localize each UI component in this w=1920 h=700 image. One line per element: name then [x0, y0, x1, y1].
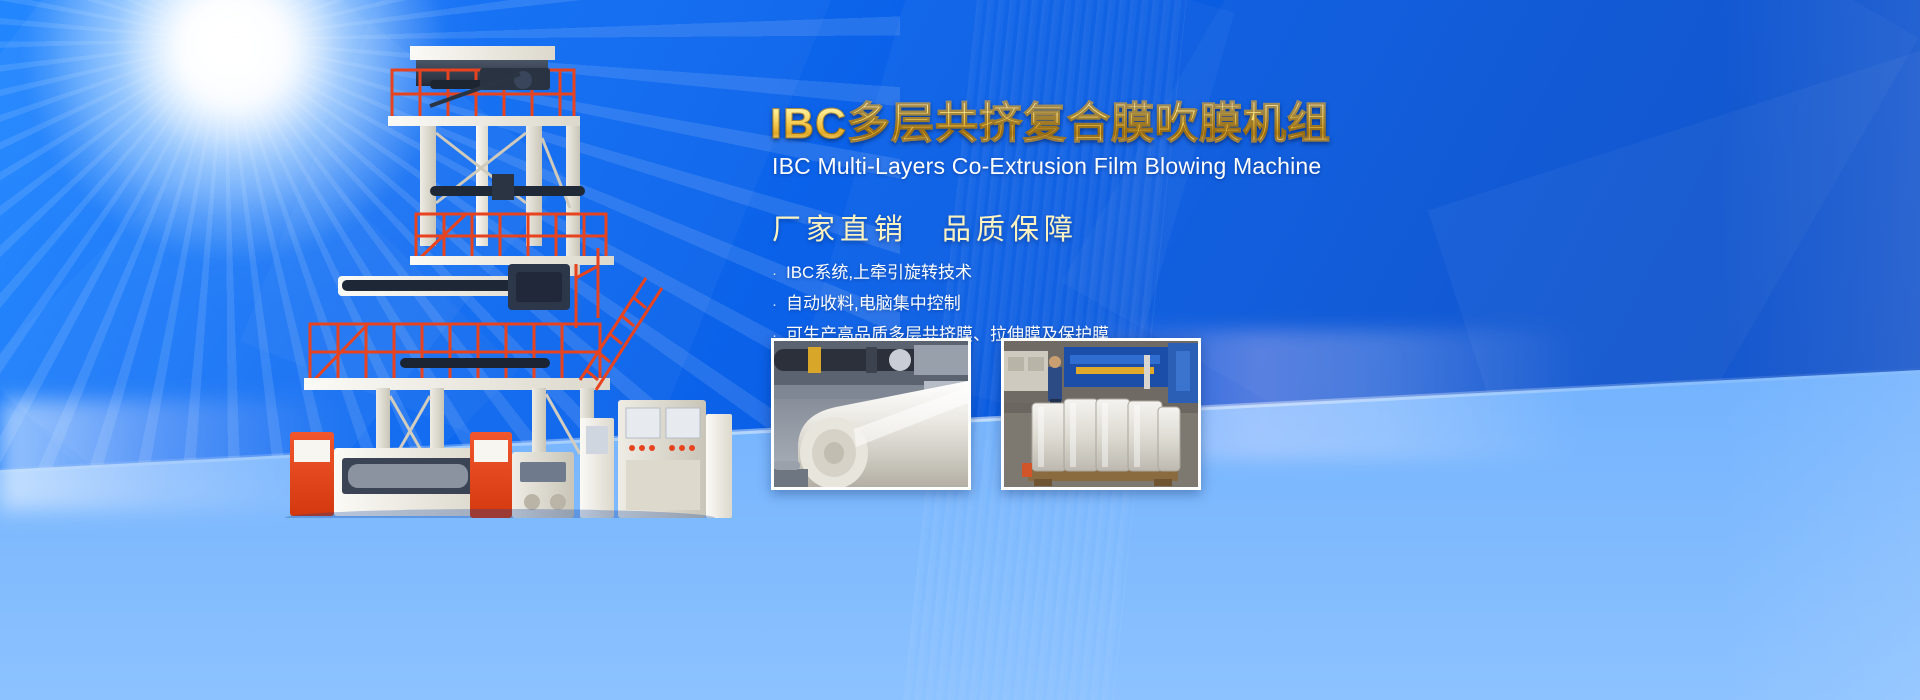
- list-item: · 自动收料,电脑集中控制: [772, 295, 1470, 312]
- ibc-film-blowing-machine-tower: [280, 28, 740, 518]
- list-item-label: 自动收料,电脑集中控制: [786, 295, 961, 312]
- copy-block: IBC多层共挤复合膜吹膜机组 IBC Multi-Layers Co-Extru…: [770, 100, 1470, 357]
- list-item: · IBC系统,上牵引旋转技术: [772, 264, 1470, 281]
- list-item-label: IBC系统,上牵引旋转技术: [786, 264, 972, 281]
- tagline: 厂家直销 品质保障: [772, 206, 1470, 248]
- promo-banner: IBC多层共挤复合膜吹膜机组 IBC Multi-Layers Co-Extru…: [0, 0, 1920, 700]
- subtitle-english: IBC Multi-Layers Co-Extrusion Film Blowi…: [772, 153, 1470, 180]
- stacked-film-rolls-photo: [1001, 338, 1201, 490]
- bullet-dot-icon: ·: [772, 266, 777, 281]
- product-photo-strip: [771, 338, 1201, 490]
- film-roll-photo: [771, 338, 971, 490]
- bullet-dot-icon: ·: [772, 297, 777, 312]
- page-title: IBC多层共挤复合膜吹膜机组: [770, 100, 1470, 148]
- feature-list: · IBC系统,上牵引旋转技术 · 自动收料,电脑集中控制 · 可生产高品质多层…: [772, 264, 1470, 343]
